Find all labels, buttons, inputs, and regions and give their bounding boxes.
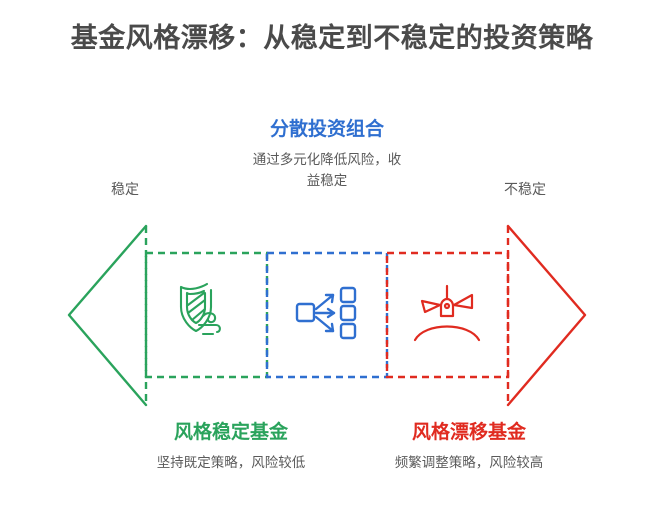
segment-panel-stable[interactable] [146, 253, 267, 377]
weathervane-icon [415, 286, 479, 340]
segment-panel-diversified[interactable] [267, 253, 387, 377]
segment-caption-drift[interactable]: 风格漂移基金 频繁调整策略，风险较高 [354, 421, 584, 473]
segment-heading-stable: 风格稳定基金 [116, 421, 346, 445]
segment-description-stable: 坚持既定策略，风险较低 [116, 452, 346, 473]
arrow-left-head-icon [69, 226, 146, 405]
segment-heading-drift: 风格漂移基金 [354, 421, 584, 445]
segment-caption-stable[interactable]: 风格稳定基金 坚持既定策略，风险较低 [116, 421, 346, 473]
arrow-right-head-icon [508, 226, 585, 405]
shield-wind-icon [181, 284, 220, 334]
axis-label-stable: 稳定 [80, 179, 170, 199]
axis-label-unstable: 不稳定 [470, 179, 580, 199]
segment-caption-diversified[interactable]: 分散投资组合 通过多元化降低风险，收益稳定 [212, 118, 442, 191]
distribute-nodes-icon [297, 288, 355, 338]
segment-description-diversified: 通过多元化降低风险，收益稳定 [212, 149, 442, 191]
segment-heading-diversified: 分散投资组合 [212, 118, 442, 142]
segment-description-drift: 频繁调整策略，风险较高 [354, 452, 584, 473]
diagram-stage: 稳定 不稳定 分散投资组合 通过多元化降低风险，收益稳定 风格稳定基金 坚持既定… [0, 0, 664, 532]
